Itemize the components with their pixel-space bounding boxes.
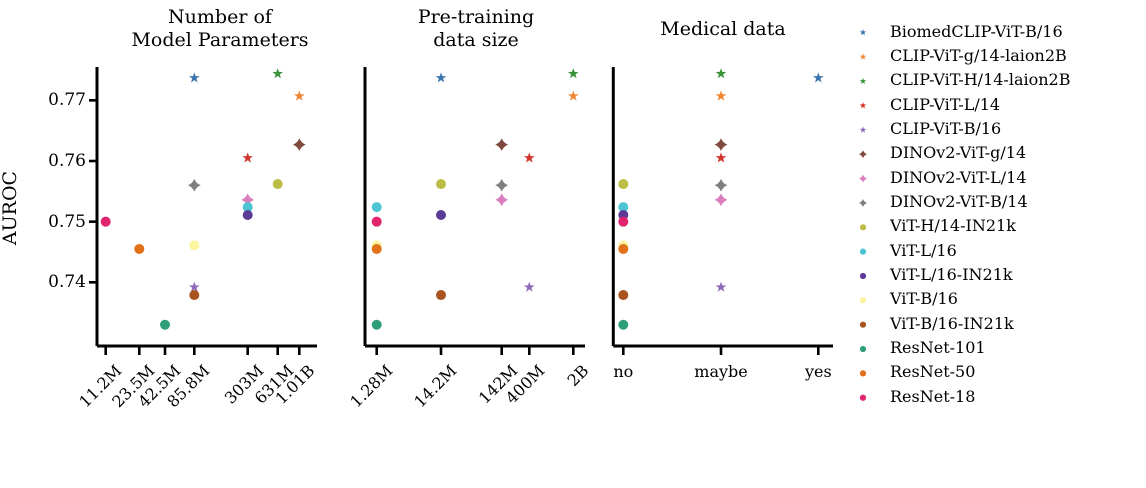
- legend-circle-icon: [860, 395, 866, 401]
- legend-item-label[interactable]: ResNet-101: [890, 340, 986, 356]
- point-resnet-18: [101, 217, 111, 227]
- y-tick-label: 0.74: [20, 272, 86, 292]
- point-resnet-50: [372, 244, 382, 254]
- legend-item-label[interactable]: ViT-B/16: [890, 291, 958, 307]
- legend-marker-star-icon: [860, 29, 867, 35]
- legend-item-label[interactable]: CLIP-ViT-H/14-laion2B: [890, 72, 1070, 88]
- legend-item-label[interactable]: DINOv2-ViT-g/14: [890, 145, 1026, 161]
- legend-item-label[interactable]: CLIP-ViT-B/16: [890, 121, 1001, 137]
- point-dinov2-vit-g-14: [293, 138, 306, 151]
- point-dinov2-vit-b-14: [715, 179, 728, 192]
- point-biomedclip-vit-b-16: [189, 72, 200, 82]
- point-dinov2-vit-g-14: [495, 138, 508, 151]
- legend-circle-icon: [860, 224, 866, 230]
- point-resnet-18: [618, 217, 628, 227]
- point-vit-h-14-in21k: [436, 179, 446, 189]
- legend-marker-circle-icon: [860, 322, 866, 328]
- point-resnet-101: [372, 320, 382, 330]
- legend-circle-icon: [860, 322, 866, 328]
- legend-diamond-icon: [859, 199, 867, 207]
- legend-circle-icon: [860, 273, 866, 279]
- point-vit-h-14-in21k: [618, 179, 628, 189]
- legend-star-icon: [860, 78, 867, 84]
- legend-circle-icon: [860, 297, 866, 303]
- point-vit-l-16: [372, 202, 382, 212]
- point-biomedclip-vit-b-16: [813, 72, 824, 82]
- legend-item-label[interactable]: ResNet-50: [890, 364, 975, 380]
- panel-2-title: Pre-training data size: [366, 6, 586, 52]
- point-resnet-101: [618, 320, 628, 330]
- point-resnet-50: [134, 244, 144, 254]
- point-clip-vit-l-14: [716, 152, 727, 162]
- legend-item-label[interactable]: ViT-B/16-IN21k: [890, 316, 1014, 332]
- legend-item-label[interactable]: DINOv2-ViT-B/14: [890, 194, 1028, 210]
- legend-item-label[interactable]: ViT-L/16: [890, 243, 957, 259]
- panel-1-title: Number of Model Parameters: [100, 6, 340, 52]
- legend-star-icon: [860, 53, 867, 59]
- legend-marker-diamond-icon: [859, 199, 867, 207]
- point-biomedclip-vit-b-16: [436, 72, 447, 82]
- legend-marker-circle-icon: [860, 346, 866, 352]
- legend-marker-diamond-icon: [859, 150, 867, 158]
- point-vit-b-16-in21k: [189, 290, 199, 300]
- legend-item-label[interactable]: CLIP-ViT-L/14: [890, 97, 1000, 113]
- legend-marker-circle-icon: [860, 297, 866, 303]
- point-vit-b-16-in21k: [618, 290, 628, 300]
- point-clip-vit-h-14-laion2b: [716, 68, 727, 78]
- point-dinov2-vit-l-14: [495, 193, 508, 206]
- point-vit-l-16-in21k: [243, 210, 253, 220]
- legend-item-label[interactable]: CLIP-ViT-g/14-laion2B: [890, 48, 1067, 64]
- point-resnet-50: [618, 244, 628, 254]
- point-clip-vit-l-14: [242, 152, 253, 162]
- legend-marker-star-icon: [860, 126, 867, 132]
- point-clip-vit-l-14: [524, 152, 535, 162]
- point-vit-h-14-in21k: [273, 179, 283, 189]
- point-dinov2-vit-b-14: [495, 179, 508, 192]
- legend-marker-circle-icon: [860, 395, 866, 401]
- panel-3-x-tick-label: yes: [758, 362, 878, 381]
- legend-star-icon: [860, 102, 867, 108]
- point-resnet-101: [160, 320, 170, 330]
- y-tick-label: 0.75: [20, 212, 86, 232]
- legend-item-label[interactable]: DINOv2-ViT-L/14: [890, 170, 1027, 186]
- legend-item-label[interactable]: ViT-L/16-IN21k: [890, 267, 1013, 283]
- legend-marker-circle-icon: [860, 273, 866, 279]
- legend-marker-circle-icon: [860, 249, 866, 255]
- point-dinov2-vit-g-14: [715, 138, 728, 151]
- legend-marker-circle-icon: [860, 224, 866, 230]
- legend-circle-icon: [860, 346, 866, 352]
- legend-marker-star-icon: [860, 102, 867, 108]
- panel-3-title: Medical data: [612, 18, 834, 41]
- legend-item-label[interactable]: ViT-H/14-IN21k: [890, 218, 1016, 234]
- legend-star-icon: [860, 126, 867, 132]
- y-axis-label: AUROC: [0, 168, 21, 248]
- point-clip-vit-g-14-laion2b: [716, 91, 727, 101]
- point-resnet-18: [372, 217, 382, 227]
- legend-item-label[interactable]: BiomedCLIP-ViT-B/16: [890, 24, 1063, 40]
- legend-star-icon: [860, 29, 867, 35]
- point-clip-vit-b-16: [524, 282, 535, 292]
- legend-marker-star-icon: [860, 53, 867, 59]
- legend-item-label[interactable]: ResNet-18: [890, 389, 975, 405]
- point-clip-vit-b-16: [716, 282, 727, 292]
- legend-marker-star-icon: [860, 78, 867, 84]
- point-vit-b-16-in21k: [436, 290, 446, 300]
- point-vit-l-16-in21k: [436, 210, 446, 220]
- point-vit-b-16: [189, 240, 199, 250]
- point-clip-vit-g-14-laion2b: [294, 91, 305, 101]
- y-tick-label: 0.77: [20, 90, 86, 110]
- figure-canvas: AUROC0.770.760.750.74Number of Model Par…: [0, 0, 1146, 448]
- y-tick-label: 0.76: [20, 151, 86, 171]
- point-dinov2-vit-b-14: [188, 179, 201, 192]
- point-clip-vit-g-14-laion2b: [568, 91, 579, 101]
- point-clip-vit-h-14-laion2b: [568, 68, 579, 78]
- point-dinov2-vit-l-14: [715, 193, 728, 206]
- legend-circle-icon: [860, 249, 866, 255]
- legend-diamond-icon: [859, 150, 867, 158]
- point-clip-vit-h-14-laion2b: [272, 68, 283, 78]
- legend-marker-diamond-icon: [859, 175, 867, 183]
- legend-diamond-icon: [859, 175, 867, 183]
